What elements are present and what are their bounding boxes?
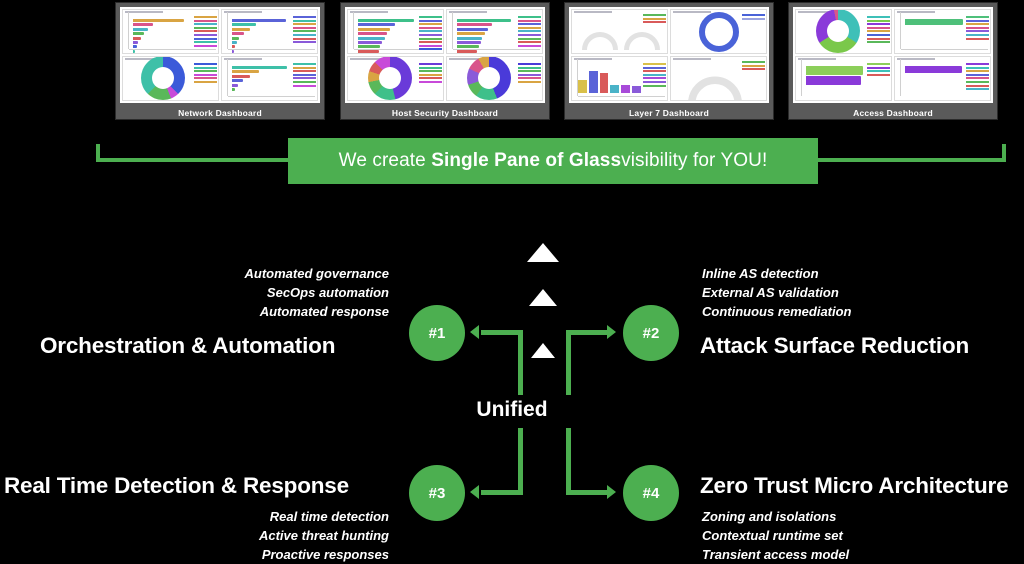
quadrant-4-headline: Zero Trust Micro Architecture [700,473,1008,499]
connector-3-vertical [518,428,523,491]
connector-2-horizontal [566,330,608,335]
banner-text: We create Single Pane of Glassvisibility… [339,150,768,172]
slide-canvas: Network Dashboard [0,0,1024,562]
quadrant-3-bullet-2: Active threat hunting [259,526,389,545]
quadrant-1-bullets: Automated governance SecOps automation A… [245,264,389,321]
gauge-panel [571,9,668,54]
connector-4-horizontal [566,490,608,495]
access-dashboard-thumbnail[interactable]: Access Dashboard [788,2,998,120]
quadrant-3-bullets: Real time detection Active threat huntin… [259,507,389,564]
triangle-icon-top [527,243,559,262]
donut-panel [122,56,219,101]
connector-1-vertical [518,330,523,395]
triangle-icon-bottom [531,343,555,358]
donut-panel [347,56,444,101]
connector-2-arrowhead [607,325,616,339]
quadrant-2-headline: Attack Surface Reduction [700,333,969,359]
bracket-left-line [96,158,292,162]
single-pane-banner: We create Single Pane of Glassvisibility… [288,138,818,184]
quadrant-2-bullet-1: Inline AS detection [702,264,852,283]
connector-4-vertical [566,428,571,491]
chart-panel [347,9,444,54]
dashboard-preview [345,7,545,103]
banner-suffix: visibility for YOU! [621,150,767,171]
quadrant-4-bullet-3: Transient access model [702,545,849,564]
chart-panel [221,9,318,54]
badge-2[interactable]: #2 [623,305,679,361]
ring-panel [670,9,767,54]
quadrant-3-bullet-1: Real time detection [259,507,389,526]
triangle-icon-middle [529,289,557,306]
dashboard-preview [793,7,993,103]
layer7-dashboard-thumbnail[interactable]: Layer 7 Dashboard [564,2,774,120]
banner-emphasis: Single Pane of Glass [431,150,621,171]
chart-panel [221,56,318,101]
chart-panel [795,56,892,101]
quadrant-1-bullet-2: SecOps automation [245,283,389,302]
quadrant-2-bullet-2: External AS validation [702,283,852,302]
quadrant-4-bullets: Zoning and isolations Contextual runtime… [702,507,849,564]
donut-panel [795,9,892,54]
thumbnail-caption: Network Dashboard [120,103,320,123]
column-chart-panel [571,56,668,101]
connector-1-arrowhead [470,325,479,339]
thumbnail-caption: Access Dashboard [793,103,993,123]
quadrant-2-bullets: Inline AS detection External AS validati… [702,264,852,321]
bracket-right-tick [1002,144,1006,162]
connector-2-vertical [566,330,571,395]
chart-panel [446,9,543,54]
quadrant-1-headline: Orchestration & Automation [40,333,335,359]
donut-panel [446,56,543,101]
chart-panel [122,9,219,54]
quadrant-3-headline: Real Time Detection & Response [4,473,349,499]
connector-1-horizontal [481,330,523,335]
connector-3-arrowhead [470,485,479,499]
bracket-right-line [814,158,1006,162]
host-security-dashboard-thumbnail[interactable]: Host Security Dashboard [340,2,550,120]
quadrant-2-bullet-3: Continuous remediation [702,302,852,321]
thumbnail-caption: Layer 7 Dashboard [569,103,769,123]
gauge-panel [670,56,767,101]
dashboard-preview [120,7,320,103]
banner-prefix: We create [339,150,432,171]
connector-4-arrowhead [607,485,616,499]
quadrant-1-bullet-3: Automated response [245,302,389,321]
badge-3[interactable]: #3 [409,465,465,521]
quadrant-4-bullet-1: Zoning and isolations [702,507,849,526]
network-dashboard-thumbnail[interactable]: Network Dashboard [115,2,325,120]
quadrant-1-bullet-1: Automated governance [245,264,389,283]
quadrant-3-bullet-3: Proactive responses [259,545,389,564]
quadrant-4-bullet-2: Contextual runtime set [702,526,849,545]
badge-4[interactable]: #4 [623,465,679,521]
badge-1[interactable]: #1 [409,305,465,361]
chart-panel [894,9,991,54]
dashboard-preview [569,7,769,103]
connector-3-horizontal [481,490,523,495]
thumbnail-caption: Host Security Dashboard [345,103,545,123]
unified-label: Unified [0,398,1024,422]
chart-panel [894,56,991,101]
